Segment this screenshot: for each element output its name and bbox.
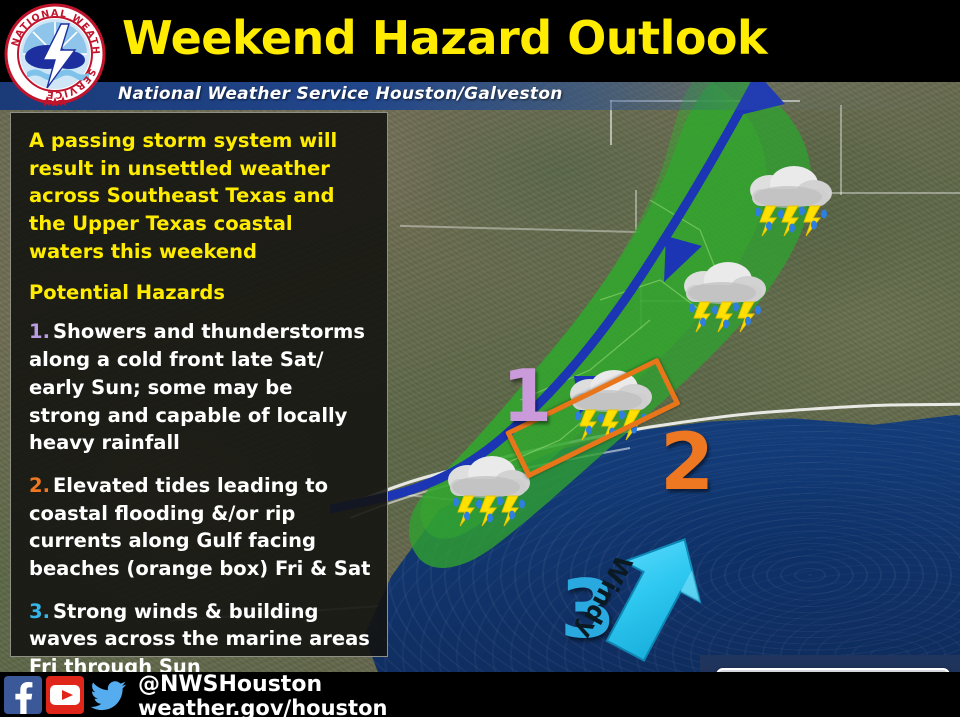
twitter-handle: @NWSHouston (138, 672, 322, 697)
hazard-number-3: 3. (29, 600, 50, 623)
office-subtitle: National Weather Service Houston/Galvest… (118, 84, 563, 104)
nws-logo: NATIONAL WEATHER SERVICE (3, 2, 107, 106)
hazards-heading: Potential Hazards (29, 281, 371, 304)
twitter-icon[interactable] (90, 676, 128, 714)
hazard-number-1: 1. (29, 320, 50, 343)
hazard-text-3: Strong winds & building waves across the… (29, 600, 370, 678)
page-title: Weekend Hazard Outlook (122, 11, 767, 65)
hazard-item-1: 1.Showers and thunderstorms along a cold… (29, 318, 371, 456)
website-url: weather.gov/houston (138, 697, 387, 717)
social-handle-block: @NWSHouston weather.gov/houston (138, 673, 387, 717)
intro-text: A passing storm system will result in un… (29, 127, 371, 265)
hazard-item-3: 3.Strong winds & building waves across t… (29, 598, 371, 681)
youtube-icon[interactable] (46, 676, 84, 714)
hazard-text-panel: A passing storm system will result in un… (10, 112, 388, 657)
weather-graphic: 1 2 3 Windy (0, 0, 960, 717)
facebook-icon[interactable] (4, 676, 42, 714)
hazard-item-2: 2.Elevated tides leading to coastal floo… (29, 472, 371, 583)
hazard-text-1: Showers and thunderstorms along a cold f… (29, 320, 365, 454)
hazard-number-2: 2. (29, 474, 50, 497)
hazard-text-2: Elevated tides leading to coastal floodi… (29, 474, 370, 580)
